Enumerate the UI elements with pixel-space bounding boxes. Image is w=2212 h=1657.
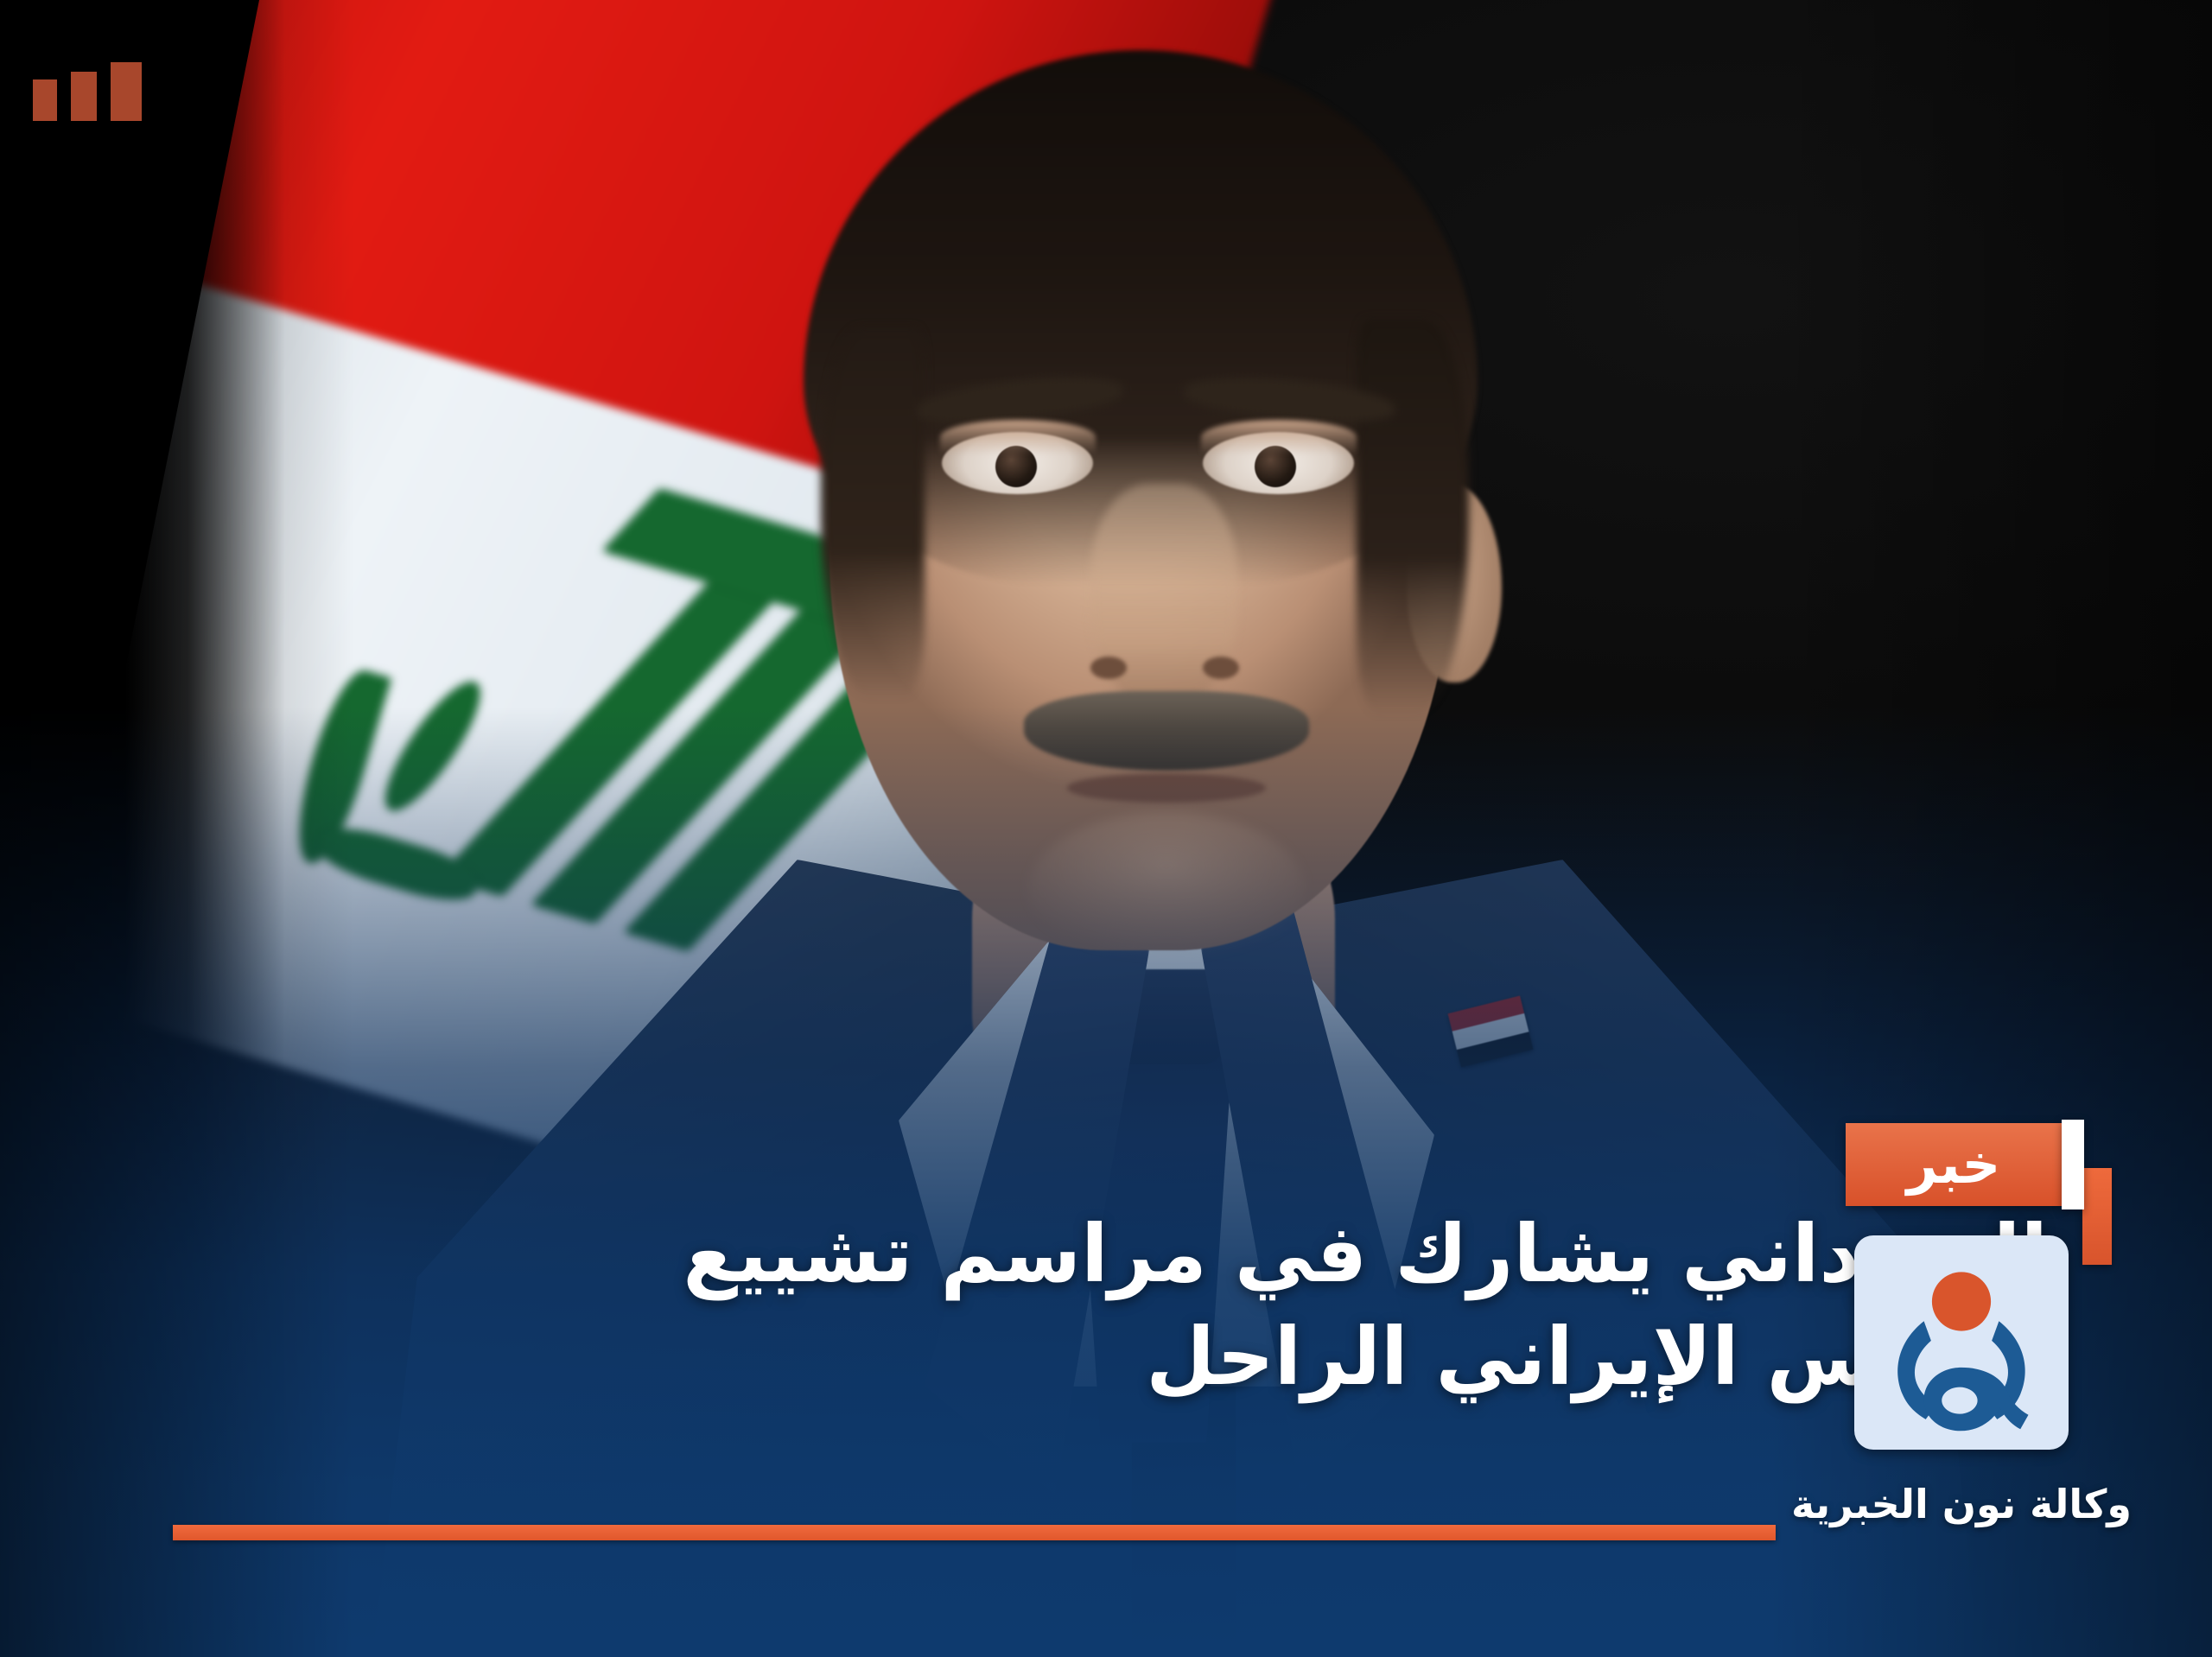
sideburn-right bbox=[1357, 320, 1469, 717]
logo-dot-icon bbox=[1932, 1272, 1991, 1330]
eyelid-right bbox=[1201, 420, 1357, 454]
brand-block: خبر وكالة نون الخبرية bbox=[1780, 1123, 2143, 1527]
bars-mark-icon bbox=[33, 60, 142, 121]
news-badge-tick bbox=[2062, 1120, 2084, 1209]
sideburn-left bbox=[821, 328, 925, 700]
news-badge-label: خبر bbox=[1846, 1123, 2062, 1206]
chin bbox=[1028, 812, 1305, 968]
eyelid-left bbox=[940, 420, 1096, 454]
nostril-right bbox=[1203, 657, 1239, 679]
news-graphic-card: السوداني يشارك في مراسم تشييع الرئيس الإ… bbox=[0, 0, 2212, 1657]
headline-rule bbox=[173, 1525, 1776, 1540]
agency-logo bbox=[1854, 1235, 2069, 1450]
mouth bbox=[1067, 773, 1266, 803]
news-badge: خبر bbox=[1846, 1123, 2062, 1206]
nostril-left bbox=[1090, 657, 1127, 679]
agency-name: وكالة نون الخبرية bbox=[1780, 1481, 2143, 1527]
mustache bbox=[1024, 691, 1309, 771]
